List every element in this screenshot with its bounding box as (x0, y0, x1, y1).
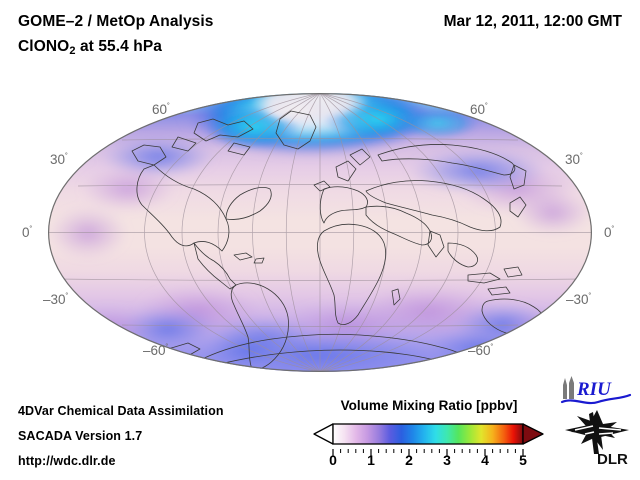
riu-wordmark: RIU (576, 379, 612, 400)
colorbar-ticks (313, 444, 545, 452)
footer-url[interactable]: http://wdc.dlr.de (18, 454, 116, 468)
world-map (48, 93, 592, 372)
dlr-logo: DLR (563, 408, 633, 466)
lat-label-right-m30: –30˚ (566, 292, 592, 307)
lat-label-left-m30: –30˚ (43, 292, 69, 307)
riu-logo: RIU (560, 375, 632, 407)
timestamp: Mar 12, 2011, 12:00 GMT (444, 13, 622, 31)
lat-label-left-30: 30˚ (50, 152, 68, 167)
page-title: GOME–2 / MetOp Analysis (18, 13, 214, 31)
species-title: ClONO2 at 55.4 hPa (18, 38, 162, 57)
riu-logo-svg: RIU (560, 375, 632, 407)
figure-canvas: GOME–2 / MetOp Analysis ClONO2 at 55.4 h… (0, 0, 640, 480)
colorbar (313, 423, 545, 445)
degree-symbol: ˚ (167, 102, 170, 112)
colorbar-svg (313, 423, 545, 445)
degree-symbol: ˚ (30, 225, 33, 235)
degree-symbol: ˚ (66, 292, 69, 302)
degree-symbol: ˚ (65, 152, 68, 162)
degree-symbol: ˚ (589, 292, 592, 302)
colorbar-tick-1: 1 (367, 452, 375, 468)
dlr-bird-mark (565, 410, 629, 454)
species-level: at 55.4 hPa (76, 38, 163, 55)
degree-symbol: ˚ (580, 152, 583, 162)
colorbar-tick-labels: 0 1 2 3 4 5 (313, 452, 545, 472)
colorbar-tick-2: 2 (405, 452, 413, 468)
colorbar-tick-5: 5 (519, 452, 527, 468)
towers-mark (563, 376, 574, 399)
lat-label-right-30: 30˚ (565, 152, 583, 167)
degree-symbol: ˚ (166, 343, 169, 353)
colorbar-tick-4: 4 (481, 452, 489, 468)
colorbar-title: Volume Mixing Ratio [ppbv] (333, 398, 525, 413)
lat-label-right-m60: –60˚ (468, 343, 494, 358)
species-name: ClONO (18, 38, 69, 55)
dlr-wordmark: DLR (597, 451, 628, 466)
lat-label-left-60: 60˚ (152, 102, 170, 117)
lat-label-left-0: 0˚ (22, 225, 33, 240)
lat-label-right-60: 60˚ (470, 102, 488, 117)
footer-version: SACADA Version 1.7 (18, 429, 142, 443)
degree-symbol: ˚ (491, 343, 494, 353)
dlr-logo-svg: DLR (563, 408, 633, 466)
lat-label-left-m60: –60˚ (143, 343, 169, 358)
degree-symbol: ˚ (612, 225, 615, 235)
lat-label-right-0: 0˚ (604, 225, 615, 240)
footer-method: 4DVar Chemical Data Assimilation (18, 404, 224, 418)
degree-symbol: ˚ (485, 102, 488, 112)
colorbar-tick-0: 0 (329, 452, 337, 468)
colorbar-tick-3: 3 (443, 452, 451, 468)
map-svg (48, 93, 592, 372)
